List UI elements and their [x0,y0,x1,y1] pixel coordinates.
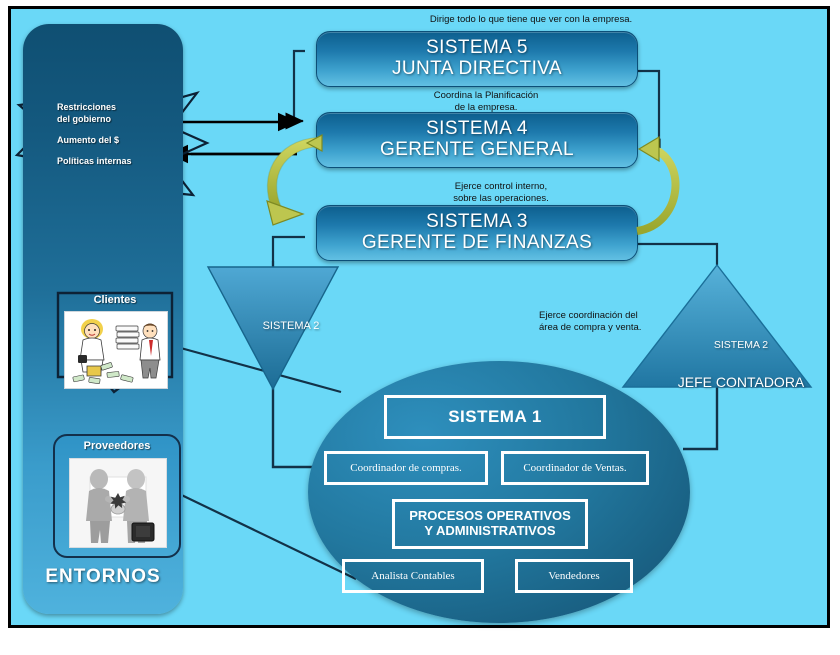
feedback-arrow-right [637,137,675,231]
feedback-arrow-left [267,135,322,225]
diagram-frame: ENTORNOS Restricciones del gobierno Aume… [8,6,830,628]
diagram-inner: ENTORNOS Restricciones del gobierno Aume… [11,9,827,625]
diagram-canvas: ENTORNOS Restricciones del gobierno Aume… [0,0,840,655]
feedback-arrow-layer [11,9,827,625]
